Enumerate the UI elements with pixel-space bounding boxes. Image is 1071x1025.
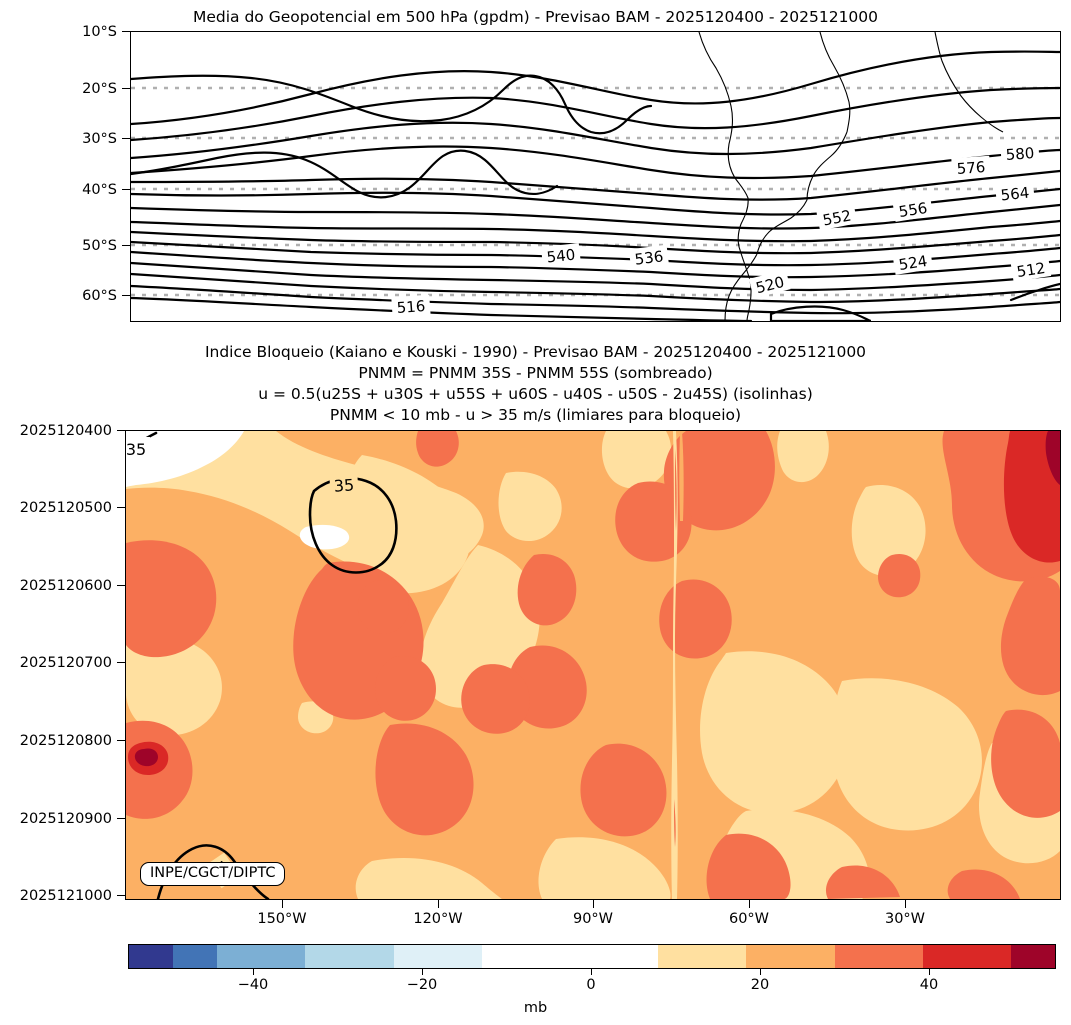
- bottom-ytick-label-0: 2025120400: [0, 423, 112, 439]
- top-ytick-mark-2: [122, 138, 130, 139]
- top-ytick-label-2: 30°S: [55, 131, 117, 147]
- colorbar-swatch: [394, 945, 482, 968]
- colorbar[interactable]: [128, 944, 1056, 969]
- bottom-ytick-mark-3: [117, 662, 125, 663]
- bottom-panel-title-line-4: PNMM < 10 mb - u > 35 m/s (limiares para…: [0, 406, 1071, 424]
- svg-text:556: 556: [897, 199, 928, 221]
- bottom-xtick-label-2: 90°W: [543, 911, 643, 927]
- bottom-ytick-label-5: 2025120900: [0, 811, 112, 827]
- colorbar-label-4: 40: [879, 977, 979, 993]
- colorbar-label-2: 0: [541, 977, 641, 993]
- geopotential-contour-plot: 580 576 564 556: [130, 31, 1061, 322]
- svg-text:540: 540: [546, 246, 576, 267]
- top-ytick-label-4: 50°S: [55, 238, 117, 254]
- bottom-panel-title-line-3: u = 0.5(u25S + u30S + u55S + u60S - u40S…: [0, 385, 1071, 403]
- colorbar-tick-0: [253, 969, 254, 975]
- bottom-ytick-mark-2: [117, 585, 125, 586]
- colorbar-swatch: [173, 945, 217, 968]
- colorbar-swatch: [129, 945, 173, 968]
- bottom-ytick-label-2: 2025120600: [0, 578, 112, 594]
- svg-text:516: 516: [396, 297, 426, 317]
- colorbar-swatch: [217, 945, 305, 968]
- bottom-ytick-mark-6: [117, 895, 125, 896]
- svg-text:564: 564: [1000, 184, 1030, 205]
- bottom-xtick-mark-3: [749, 900, 750, 908]
- colorbar-swatch: [746, 945, 834, 968]
- bottom-xtick-label-4: 30°W: [855, 911, 955, 927]
- bottom-xtick-mark-0: [282, 900, 283, 908]
- colorbar-swatch: [923, 945, 1011, 968]
- bottom-ytick-label-6: 2025121000: [0, 888, 112, 904]
- colorbar-swatch: [482, 945, 658, 968]
- blocking-index-heatmap: 35 35 35: [125, 430, 1061, 900]
- colorbar-swatch: [1011, 945, 1055, 968]
- colorbar-tick-3: [760, 969, 761, 975]
- top-ytick-label-1: 20°S: [55, 81, 117, 97]
- top-ytick-label-3: 40°S: [55, 182, 117, 198]
- colorbar-swatch: [835, 945, 923, 968]
- colorbar-tick-1: [422, 969, 423, 975]
- top-ytick-label-0: 10°S: [55, 24, 117, 40]
- svg-text:35: 35: [333, 475, 355, 495]
- bottom-ytick-label-1: 2025120500: [0, 500, 112, 516]
- bottom-xtick-label-3: 60°W: [699, 911, 799, 927]
- bottom-ytick-mark-1: [117, 507, 125, 508]
- bottom-panel-title-line-2: PNMM = PNMM 35S - PNMM 55S (sombreado): [0, 364, 1071, 382]
- bottom-xtick-mark-1: [438, 900, 439, 908]
- top-ytick-mark-1: [122, 88, 130, 89]
- colorbar-unit-label: mb: [0, 1000, 1071, 1016]
- colorbar-tick-2: [591, 969, 592, 975]
- top-ytick-label-5: 60°S: [55, 288, 117, 304]
- svg-text:524: 524: [897, 252, 928, 274]
- colorbar-label-0: −40: [203, 977, 303, 993]
- colorbar-swatch: [305, 945, 393, 968]
- geopotential-contours: [131, 52, 1060, 321]
- top-panel-title: Media do Geopotencial em 500 hPa (gpdm) …: [0, 8, 1071, 26]
- svg-text:576: 576: [956, 158, 986, 178]
- svg-text:35: 35: [126, 440, 146, 459]
- top-ytick-mark-4: [122, 245, 130, 246]
- bottom-ytick-label-4: 2025120800: [0, 733, 112, 749]
- bottom-ytick-mark-5: [117, 818, 125, 819]
- bottom-xtick-mark-2: [593, 900, 594, 908]
- bottom-ytick-mark-4: [117, 740, 125, 741]
- credit-label: INPE/CGCT/DIPTC: [140, 862, 285, 886]
- top-ytick-mark-0: [122, 31, 130, 32]
- svg-text:580: 580: [1005, 144, 1035, 164]
- bottom-panel-title-line-1: Indice Bloqueio (Kaiano e Kouski - 1990)…: [0, 343, 1071, 361]
- colorbar-tick-4: [929, 969, 930, 975]
- colorbar-label-3: 20: [710, 977, 810, 993]
- colorbar-swatch: [658, 945, 746, 968]
- top-ytick-mark-5: [122, 295, 130, 296]
- bottom-ytick-mark-0: [117, 430, 125, 431]
- colorbar-label-1: −20: [372, 977, 472, 993]
- bottom-ytick-label-3: 2025120700: [0, 655, 112, 671]
- bottom-xtick-mark-4: [905, 900, 906, 908]
- bottom-xtick-label-1: 120°W: [388, 911, 488, 927]
- forecast-chart-page: Media do Geopotencial em 500 hPa (gpdm) …: [0, 0, 1071, 1025]
- top-ytick-mark-3: [122, 189, 130, 190]
- bottom-xtick-label-0: 150°W: [232, 911, 332, 927]
- svg-text:536: 536: [634, 247, 665, 268]
